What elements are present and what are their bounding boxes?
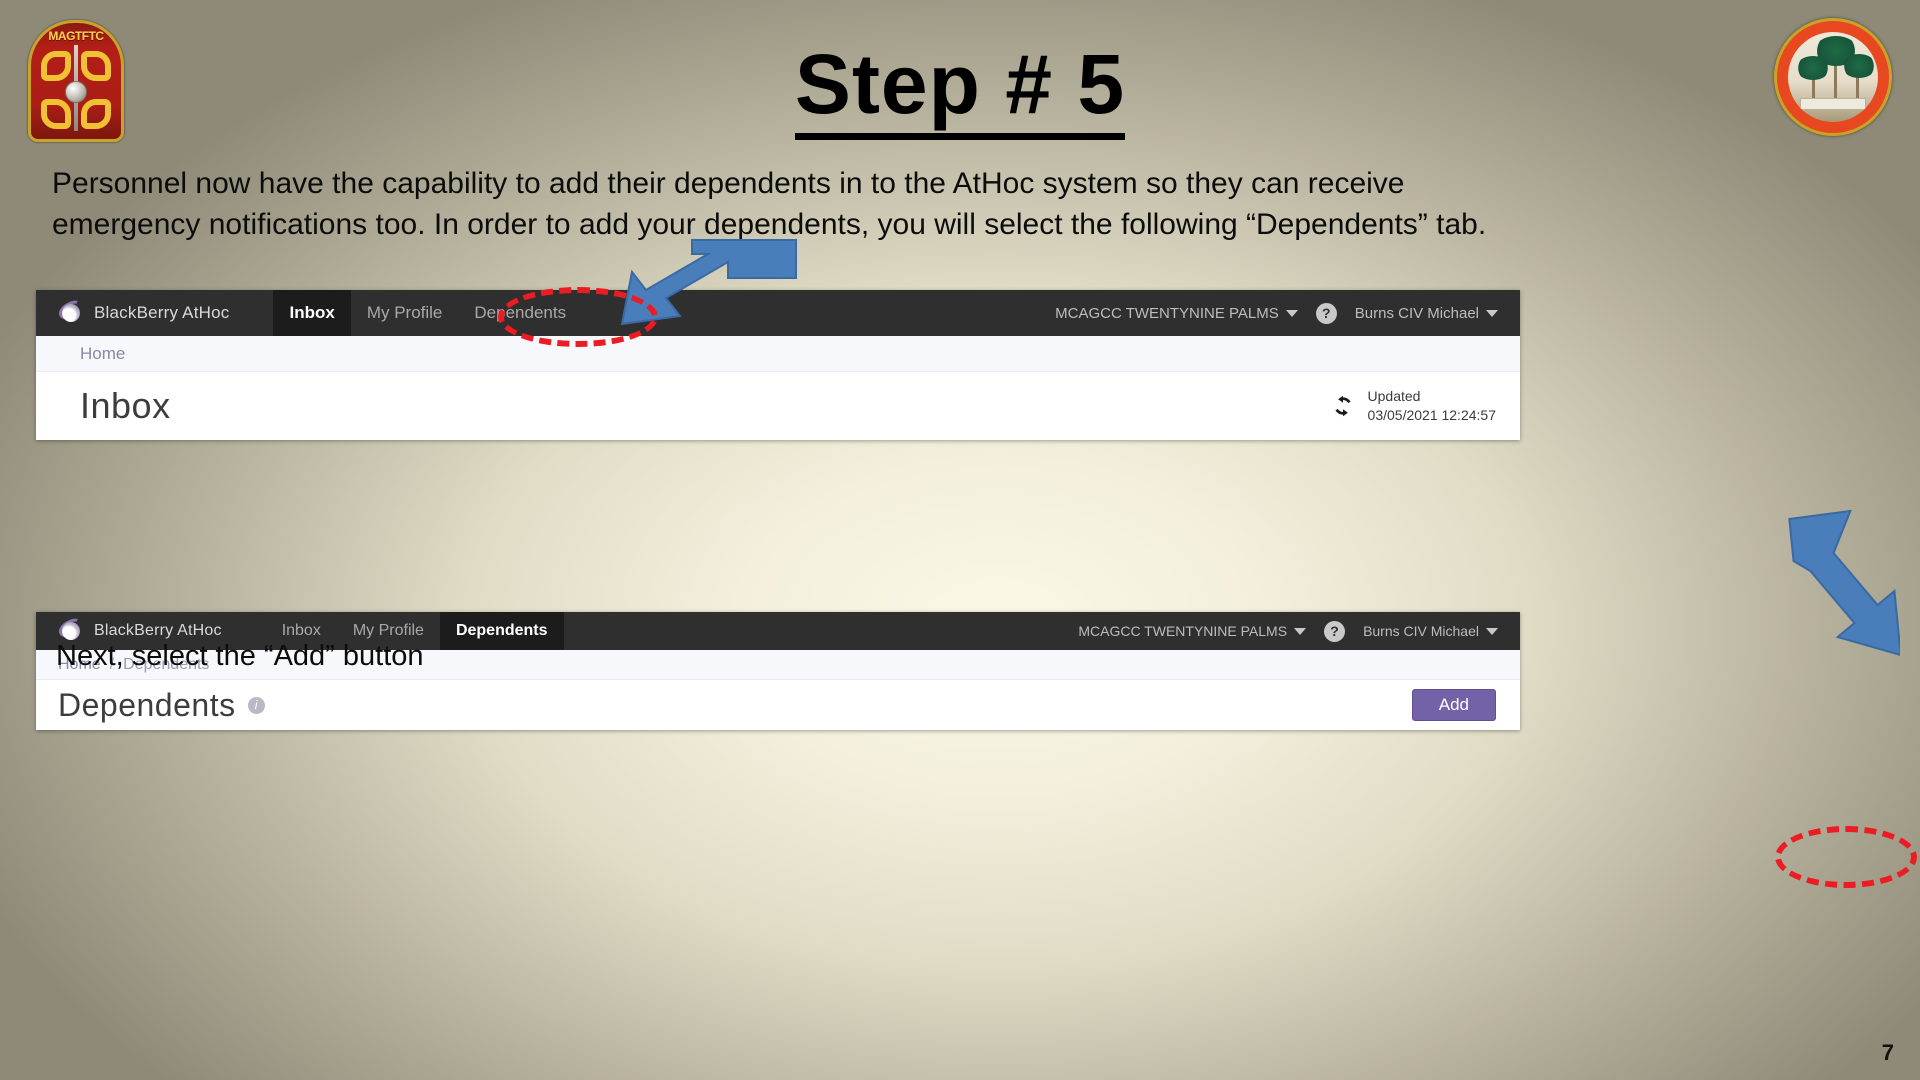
user-name-label: Burns CIV Michael [1363, 623, 1479, 639]
brand: BlackBerry AtHoc [36, 620, 222, 642]
chevron-down-icon [1486, 628, 1498, 635]
organization-name: MCAGCC TWENTYNINE PALMS [1078, 623, 1287, 639]
page-heading: Dependents [58, 687, 236, 724]
updated-label: Updated [1368, 387, 1496, 406]
tab-dependents[interactable]: Dependents [440, 612, 564, 650]
updated-block: Updated 03/05/2021 12:24:57 [1330, 387, 1496, 425]
help-icon[interactable]: ? [1316, 303, 1337, 324]
brand: BlackBerry AtHoc [36, 302, 229, 324]
updated-timestamp: 03/05/2021 12:24:57 [1368, 406, 1496, 425]
tab-my-profile[interactable]: My Profile [351, 290, 459, 336]
breadcrumb-item-home[interactable]: Home [80, 344, 125, 364]
info-icon[interactable]: i [248, 697, 265, 714]
page-header: Inbox Updated 03/05/2021 12:24:57 [36, 372, 1520, 440]
brand-name: BlackBerry AtHoc [94, 303, 229, 323]
chevron-down-icon [1486, 310, 1498, 317]
blackberry-logo-icon [58, 620, 84, 642]
annotation-ellipse-dependents-tab [498, 287, 658, 347]
slide-page-number: 7 [1882, 1040, 1894, 1066]
chevron-down-icon [1286, 310, 1298, 317]
note-paragraph: Next, select the “Add” button [56, 640, 424, 673]
organization-name: MCAGCC TWENTYNINE PALMS [1055, 305, 1279, 322]
navbar-right-group: MCAGCC TWENTYNINE PALMS ? Burns CIV Mich… [1055, 303, 1520, 324]
add-button[interactable]: Add [1412, 689, 1496, 721]
help-icon[interactable]: ? [1324, 621, 1345, 642]
chevron-down-icon [1294, 628, 1306, 635]
user-menu[interactable]: Burns CIV Michael [1363, 623, 1498, 639]
annotation-ellipse-add-button [1775, 826, 1917, 888]
refresh-icon[interactable] [1330, 393, 1356, 419]
user-menu[interactable]: Burns CIV Michael [1355, 305, 1498, 322]
arrow-to-add-button-icon [1700, 505, 1900, 665]
navbar-right-group: MCAGCC TWENTYNINE PALMS ? Burns CIV Mich… [1078, 621, 1520, 642]
updated-text: Updated 03/05/2021 12:24:57 [1368, 387, 1496, 425]
page-title-text: Step # 5 [795, 37, 1125, 140]
user-name-label: Burns CIV Michael [1355, 305, 1479, 322]
blackberry-logo-icon [58, 302, 84, 324]
page-header: Dependents i Add [36, 680, 1520, 730]
tab-inbox[interactable]: Inbox [273, 290, 350, 336]
brand-name: BlackBerry AtHoc [94, 622, 222, 640]
page-title: Step # 5 [0, 36, 1920, 133]
page-heading: Inbox [80, 385, 171, 427]
organization-selector[interactable]: MCAGCC TWENTYNINE PALMS [1055, 305, 1298, 322]
organization-selector[interactable]: MCAGCC TWENTYNINE PALMS [1078, 623, 1306, 639]
